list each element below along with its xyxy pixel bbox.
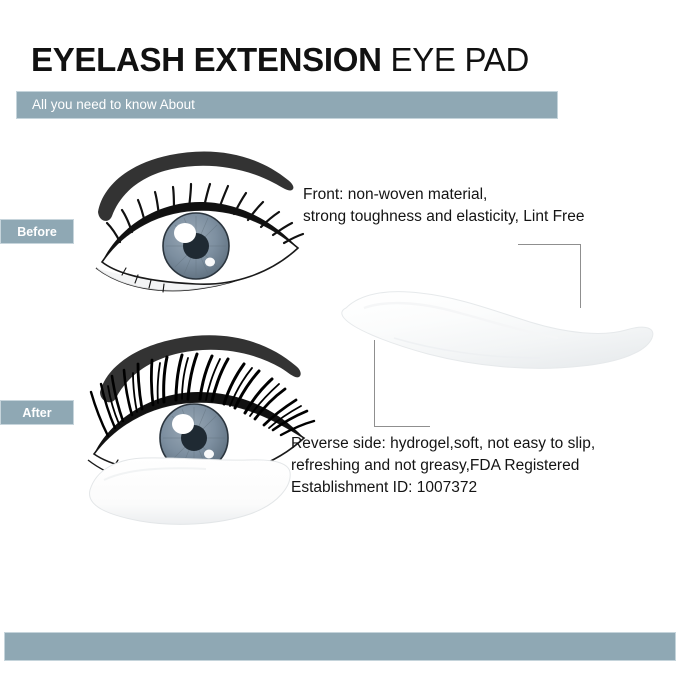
stage-badge-after: After — [0, 400, 74, 425]
page-title-light: EYE PAD — [391, 41, 530, 78]
eye-natural-lashes-icon — [92, 138, 308, 298]
callout-reverse-line-3: Establishment ID: 1007372 — [291, 477, 595, 499]
callout-front-line-2: strong toughness and elasticity, Lint Fr… — [303, 206, 584, 228]
leader-line-reverse-horizontal — [374, 426, 430, 427]
eye-extension-lashes-icon — [82, 328, 318, 528]
stage-badge-before: Before — [0, 219, 74, 244]
callout-reverse-line-1: Reverse side: hydrogel,soft, not easy to… — [291, 433, 595, 455]
callout-front: Front: non-woven material, strong toughn… — [303, 184, 584, 228]
leader-line-front-horizontal — [518, 244, 580, 245]
callout-front-line-1: Front: non-woven material, — [303, 184, 584, 206]
callout-reverse-line-2: refreshing and not greasy,FDA Registered — [291, 455, 595, 477]
leader-line-reverse-vertical — [374, 340, 375, 426]
stage-badge-after-label: After — [22, 406, 51, 420]
leader-line-front-vertical — [580, 244, 581, 308]
subtitle-bar: All you need to know About — [16, 91, 558, 119]
subtitle-text: All you need to know About — [17, 97, 195, 113]
infographic-canvas: EYELASH EXTENSION EYE PAD All you need t… — [0, 0, 679, 679]
page-title-strong: EYELASH EXTENSION — [31, 41, 382, 78]
callout-reverse: Reverse side: hydrogel,soft, not easy to… — [291, 433, 595, 499]
eye-pad-crescent-icon — [334, 282, 674, 382]
footer-accent-bar — [4, 632, 676, 661]
stage-badge-before-label: Before — [17, 225, 57, 239]
page-title: EYELASH EXTENSION EYE PAD — [31, 40, 529, 80]
